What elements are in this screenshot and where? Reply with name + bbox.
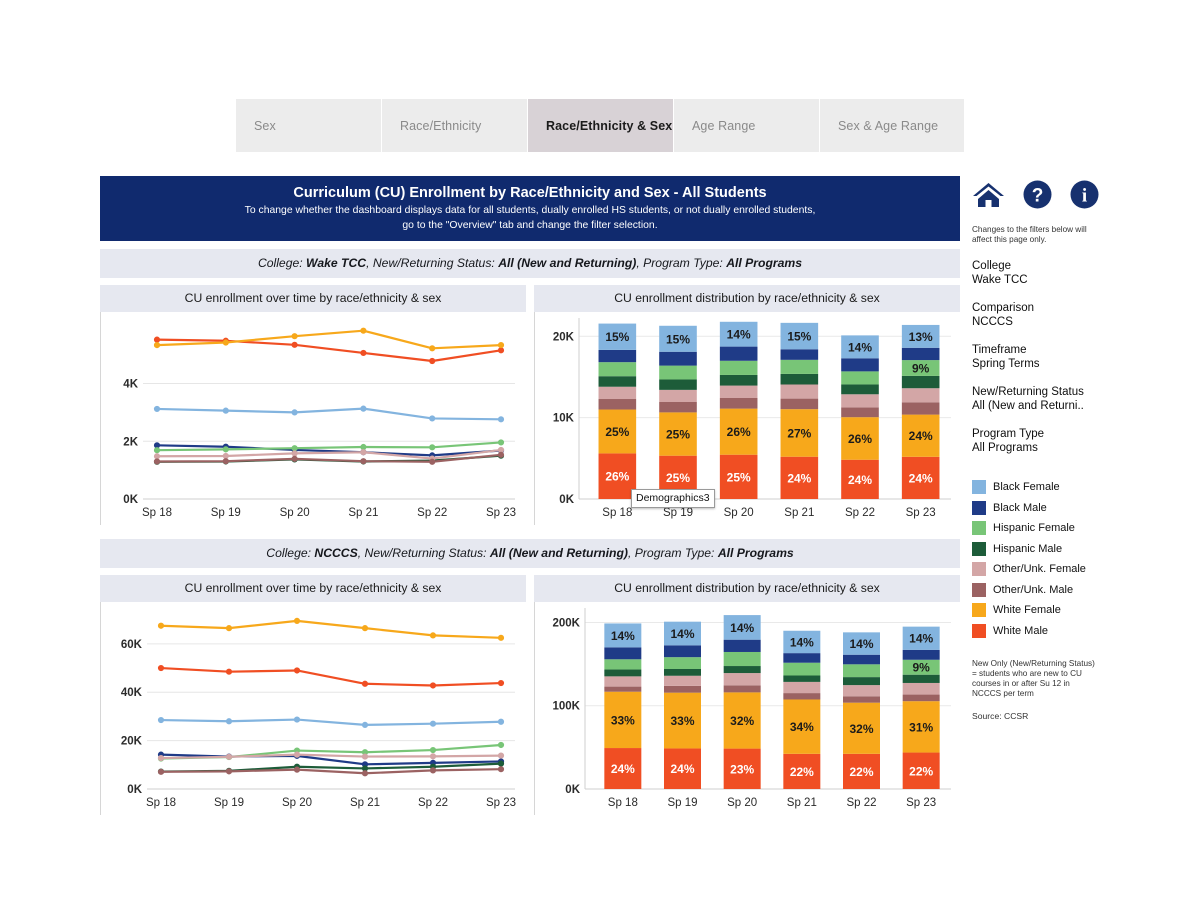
legend-swatch: [972, 501, 986, 515]
line-series-black-female[interactable]: [157, 409, 501, 420]
line-series-other-unk-male[interactable]: [161, 769, 501, 773]
data-point[interactable]: [430, 747, 435, 752]
data-point[interactable]: [498, 742, 503, 747]
data-point[interactable]: [498, 452, 503, 457]
bar-segment[interactable]: [841, 394, 879, 407]
data-point[interactable]: [294, 767, 299, 772]
home-icon[interactable]: [972, 181, 1005, 209]
data-point[interactable]: [498, 348, 503, 353]
data-point[interactable]: [158, 665, 163, 670]
bar-segment-label: 9%: [912, 661, 930, 675]
legend-item[interactable]: Black Male: [972, 498, 1122, 519]
filter-comparison[interactable]: Comparison NCCCS: [972, 301, 1122, 329]
bar-segment-label: 14%: [909, 632, 933, 646]
bar-segment-label: 33%: [611, 713, 635, 727]
filter-label: College: [972, 259, 1122, 273]
bar-segment-label: 25%: [666, 428, 690, 442]
tooltip-demographics3[interactable]: Demographics3: [631, 489, 715, 508]
bar-segment-label: 14%: [727, 328, 751, 342]
bar-segment[interactable]: [724, 673, 761, 685]
x-axis-tick-label: Sp 21: [350, 797, 380, 809]
bar-segment-label: 22%: [849, 765, 873, 779]
bar-segment[interactable]: [783, 676, 820, 682]
filter-timeframe[interactable]: Timeframe Spring Terms: [972, 343, 1122, 371]
data-point[interactable]: [158, 623, 163, 628]
x-axis-tick-label: Sp 19: [663, 507, 693, 519]
bar-segment[interactable]: [664, 645, 701, 657]
page-title: Curriculum (CU) Enrollment by Race/Ethni…: [110, 184, 950, 202]
tab-race-ethnicity[interactable]: Race/Ethnicity: [382, 99, 528, 152]
bar-segment[interactable]: [720, 398, 758, 409]
bar-segment-label: 24%: [909, 429, 933, 443]
data-point[interactable]: [226, 626, 231, 631]
bar-segment[interactable]: [599, 362, 637, 376]
bar-segment[interactable]: [604, 659, 641, 669]
bar-segment[interactable]: [783, 653, 820, 663]
band-status: All (New and Returning): [498, 256, 636, 270]
legend-swatch: [972, 521, 986, 535]
bar-segment-label: 27%: [787, 426, 811, 440]
panel-row-nccs: CU enrollment over time by race/ethnicit…: [100, 575, 960, 815]
x-axis-tick-label: Sp 19: [214, 797, 244, 809]
y-axis-tick-label: 2K: [123, 436, 138, 448]
dashboard-header: Curriculum (CU) Enrollment by Race/Ethni…: [100, 176, 960, 241]
data-point[interactable]: [430, 445, 435, 450]
x-axis-tick-label: Sp 20: [280, 507, 310, 519]
bar-segment-label: 24%: [909, 471, 933, 485]
bar-segment[interactable]: [724, 652, 761, 666]
panel-nccs-line: CU enrollment over time by race/ethnicit…: [100, 575, 526, 815]
bar-segment-label: 34%: [790, 720, 814, 734]
bar-segment[interactable]: [781, 399, 819, 410]
data-point[interactable]: [223, 408, 228, 413]
data-point[interactable]: [223, 459, 228, 464]
data-point[interactable]: [498, 635, 503, 640]
bar-segment-label: 26%: [727, 425, 751, 439]
bar-segment[interactable]: [659, 402, 697, 412]
data-point[interactable]: [154, 454, 159, 459]
x-axis-tick-label: Sp 19: [667, 797, 697, 809]
x-axis-tick-label: Sp 23: [486, 507, 516, 519]
filter-value[interactable]: NCCCS: [972, 315, 1122, 329]
stacked-bar-chart-nccs[interactable]: 0K100K200K24%33%14%Sp 1824%33%14%Sp 1923…: [535, 602, 961, 815]
data-point[interactable]: [498, 719, 503, 724]
y-axis-tick-label: 0K: [123, 494, 138, 506]
bar-segment-label: 25%: [605, 425, 629, 439]
legend-swatch: [972, 583, 986, 597]
bar-segment-label: 14%: [730, 621, 754, 635]
panel-wake-line: CU enrollment over time by race/ethnicit…: [100, 285, 526, 525]
data-point[interactable]: [292, 451, 297, 456]
bar-segment[interactable]: [843, 685, 880, 696]
tab-label: Race/Ethnicity & Sex: [546, 119, 672, 133]
x-axis-tick-label: Sp 18: [608, 797, 638, 809]
x-axis-tick-label: Sp 21: [348, 507, 378, 519]
data-point[interactable]: [362, 754, 367, 759]
bar-segment[interactable]: [841, 371, 879, 384]
x-axis-tick-label: Sp 20: [727, 797, 757, 809]
data-point[interactable]: [361, 350, 366, 355]
bar-segment-label: 25%: [727, 470, 751, 484]
legend-label: Other/Unk. Male: [993, 584, 1073, 596]
bar-segment-label: 23%: [730, 762, 754, 776]
band-college: NCCCS: [314, 546, 357, 560]
bar-segment-label: 9%: [912, 362, 930, 376]
right-sidebar: ? i Changes to the filters below will af…: [972, 180, 1122, 721]
x-axis-tick-label: Sp 22: [845, 507, 875, 519]
filter-label: New/Returning Status: [972, 385, 1122, 399]
data-point[interactable]: [294, 618, 299, 623]
data-point[interactable]: [498, 680, 503, 685]
data-point[interactable]: [362, 771, 367, 776]
legend-label: Hispanic Male: [993, 543, 1062, 555]
tab-age-range[interactable]: Age Range: [674, 99, 820, 152]
bar-segment[interactable]: [659, 379, 697, 389]
bar-segment-label: 22%: [909, 764, 933, 778]
legend-item[interactable]: Hispanic Female: [972, 518, 1122, 539]
y-axis-tick-label: 0K: [565, 784, 580, 796]
data-point[interactable]: [430, 416, 435, 421]
legend-item[interactable]: Other/Unk. Male: [972, 580, 1122, 601]
line-chart-nccs[interactable]: 0K20K40K60KSp 18Sp 19Sp 20Sp 21Sp 22Sp 2…: [101, 602, 527, 815]
legend-label: Hispanic Female: [993, 522, 1075, 534]
data-point[interactable]: [361, 444, 366, 449]
data-point[interactable]: [430, 754, 435, 759]
bar-segment-label: 15%: [787, 330, 811, 344]
x-axis-tick-label: Sp 19: [211, 507, 241, 519]
tab-label: Race/Ethnicity: [400, 119, 481, 133]
legend-swatch: [972, 480, 986, 494]
bar-segment[interactable]: [664, 669, 701, 676]
bar-segment-label: 14%: [790, 635, 814, 649]
data-point[interactable]: [361, 328, 366, 333]
bar-segment[interactable]: [720, 386, 758, 398]
line-series-black-female[interactable]: [161, 720, 501, 725]
bar-segment[interactable]: [781, 374, 819, 385]
bar-segment[interactable]: [720, 375, 758, 386]
bar-segment-label: 15%: [666, 332, 690, 346]
data-point[interactable]: [430, 768, 435, 773]
data-point[interactable]: [226, 669, 231, 674]
bar-segment-label: 14%: [611, 629, 635, 643]
wake-line-plot[interactable]: 0K2K4KSp 18Sp 19Sp 20Sp 21Sp 22Sp 23: [100, 312, 526, 525]
bar-segment[interactable]: [903, 675, 940, 683]
bar-segment[interactable]: [841, 358, 879, 371]
x-axis-tick-label: Sp 23: [906, 797, 936, 809]
panel-title: CU enrollment over time by race/ethnicit…: [100, 285, 526, 312]
bar-segment[interactable]: [659, 366, 697, 380]
panel-title: CU enrollment over time by race/ethnicit…: [100, 575, 526, 602]
stacked-bar-chart-wake[interactable]: 0K10K20K26%25%15%Sp 1825%25%15%Sp 1925%2…: [535, 312, 961, 525]
data-point[interactable]: [362, 626, 367, 631]
bar-segment[interactable]: [599, 399, 637, 410]
bar-segment[interactable]: [843, 655, 880, 665]
data-point[interactable]: [292, 342, 297, 347]
y-axis-tick-label: 10K: [553, 413, 575, 425]
bar-segment-label: 24%: [787, 471, 811, 485]
bar-segment-label: 24%: [611, 762, 635, 776]
data-point[interactable]: [292, 334, 297, 339]
bar-segment[interactable]: [902, 348, 940, 360]
data-point[interactable]: [154, 459, 159, 464]
bar-segment[interactable]: [724, 685, 761, 692]
band-mid: , New/Returning Status:: [358, 546, 490, 560]
data-point[interactable]: [498, 343, 503, 348]
data-point[interactable]: [158, 769, 163, 774]
wake-bar-plot[interactable]: 0K10K20K26%25%15%Sp 1825%25%15%Sp 1925%2…: [534, 312, 960, 525]
filter-value[interactable]: All (New and Returni..: [972, 399, 1122, 413]
bar-segment[interactable]: [841, 384, 879, 394]
line-series-white-female[interactable]: [161, 621, 501, 638]
bar-segment-label: 24%: [670, 762, 694, 776]
legend-item[interactable]: White Female: [972, 600, 1122, 621]
data-point[interactable]: [430, 358, 435, 363]
bar-segment[interactable]: [664, 657, 701, 669]
bar-segment[interactable]: [843, 677, 880, 685]
legend-swatch: [972, 542, 986, 556]
x-axis-tick-label: Sp 18: [602, 507, 632, 519]
data-point[interactable]: [294, 668, 299, 673]
bar-segment-label: 26%: [605, 470, 629, 484]
bar-segment-label: 33%: [670, 714, 694, 728]
svg-text:i: i: [1082, 186, 1087, 207]
data-point[interactable]: [154, 343, 159, 348]
data-point[interactable]: [154, 337, 159, 342]
bar-segment[interactable]: [781, 349, 819, 360]
tab-race-ethnicity-and-sex[interactable]: Race/Ethnicity & Sex: [528, 99, 674, 152]
filter-label: Program Type: [972, 427, 1122, 441]
bar-segment[interactable]: [604, 670, 641, 677]
x-axis-tick-label: Sp 22: [846, 797, 876, 809]
data-point[interactable]: [362, 681, 367, 686]
filter-value[interactable]: Wake TCC: [972, 273, 1122, 287]
legend-swatch: [972, 624, 986, 638]
filter-label: Comparison: [972, 301, 1122, 315]
data-point[interactable]: [226, 754, 231, 759]
x-axis-tick-label: Sp 23: [486, 797, 516, 809]
bar-segment[interactable]: [599, 350, 637, 362]
bar-segment[interactable]: [903, 683, 940, 695]
y-axis-tick-label: 40K: [121, 687, 143, 699]
data-point[interactable]: [430, 683, 435, 688]
x-axis-tick-label: Sp 18: [146, 797, 176, 809]
band-prefix: College:: [266, 546, 314, 560]
bar-segment-label: 24%: [848, 473, 872, 487]
data-point[interactable]: [223, 447, 228, 452]
filter-new-returning-status[interactable]: New/Returning Status All (New and Return…: [972, 385, 1122, 413]
tab-label: Age Range: [692, 119, 755, 133]
data-point[interactable]: [294, 717, 299, 722]
y-axis-tick-label: 0K: [127, 784, 142, 796]
data-point[interactable]: [223, 453, 228, 458]
y-axis-tick-label: 200K: [553, 617, 581, 629]
bar-segment[interactable]: [783, 682, 820, 693]
data-point[interactable]: [158, 717, 163, 722]
data-point[interactable]: [430, 633, 435, 638]
bar-segment-label: 22%: [790, 765, 814, 779]
data-point[interactable]: [430, 459, 435, 464]
bar-segment-label: 32%: [730, 714, 754, 728]
bar-segment-label: 25%: [666, 471, 690, 485]
y-axis-tick-label: 60K: [121, 639, 143, 651]
data-point[interactable]: [154, 448, 159, 453]
bar-segment[interactable]: [599, 387, 637, 399]
band-program: All Programs: [718, 546, 794, 560]
data-point[interactable]: [361, 406, 366, 411]
bar-segment[interactable]: [781, 360, 819, 374]
band-status: All (New and Returning): [490, 546, 628, 560]
sidebar-icon-row: ? i: [972, 180, 1122, 209]
dashboard: Curriculum (CU) Enrollment by Race/Ethni…: [100, 176, 960, 815]
filter-label: Timeframe: [972, 343, 1122, 357]
bar-segment[interactable]: [841, 407, 879, 417]
x-axis-tick-label: Sp 22: [418, 797, 448, 809]
bar-segment-label: 14%: [848, 340, 872, 354]
data-point[interactable]: [362, 722, 367, 727]
bar-segment-label: 13%: [909, 330, 933, 344]
panel-nccs-bars: CU enrollment distribution by race/ethni…: [534, 575, 960, 815]
data-point[interactable]: [361, 459, 366, 464]
legend-label: White Female: [993, 604, 1061, 616]
bar-segment[interactable]: [903, 695, 940, 702]
svg-text:?: ?: [1032, 186, 1044, 207]
data-point[interactable]: [498, 767, 503, 772]
header-subtitle-line-1: To change whether the dashboard displays…: [110, 204, 950, 217]
help-icon[interactable]: ?: [1023, 180, 1052, 209]
legend-item[interactable]: Other/Unk. Female: [972, 559, 1122, 580]
legend-label: Other/Unk. Female: [993, 563, 1086, 575]
nccs-line-plot[interactable]: 0K20K40K60KSp 18Sp 19Sp 20Sp 21Sp 22Sp 2…: [100, 602, 526, 815]
bar-segment[interactable]: [720, 361, 758, 375]
tab-sex[interactable]: Sex: [236, 99, 382, 152]
bar-segment[interactable]: [902, 402, 940, 414]
data-point[interactable]: [498, 417, 503, 422]
tab-label: Sex & Age Range: [838, 119, 938, 133]
filter-band-wake: College: Wake TCC, New/Returning Status:…: [100, 249, 960, 278]
legend-swatch: [972, 562, 986, 576]
info-icon[interactable]: i: [1070, 180, 1099, 209]
legend-item[interactable]: Black Female: [972, 477, 1122, 498]
bar-segment-label: 31%: [909, 720, 933, 734]
sidebar-source: Source: CCSR: [972, 711, 1122, 721]
x-axis-tick-label: Sp 20: [724, 507, 754, 519]
y-axis-tick-label: 20K: [553, 331, 575, 343]
data-point[interactable]: [226, 769, 231, 774]
legend-label: White Male: [993, 625, 1048, 637]
data-point[interactable]: [223, 340, 228, 345]
data-point[interactable]: [158, 755, 163, 760]
bar-segment-label: 15%: [605, 330, 629, 344]
bar-segment-label: 14%: [849, 637, 873, 651]
x-axis-tick-label: Sp 21: [784, 507, 814, 519]
data-point[interactable]: [430, 346, 435, 351]
data-point[interactable]: [292, 446, 297, 451]
bar-segment[interactable]: [659, 390, 697, 402]
line-series-white-male[interactable]: [161, 668, 501, 685]
legend-item[interactable]: Hispanic Male: [972, 539, 1122, 560]
bar-segment[interactable]: [659, 352, 697, 366]
x-axis-tick-label: Sp 23: [906, 507, 936, 519]
bar-segment-label: 14%: [670, 627, 694, 641]
bar-segment[interactable]: [599, 376, 637, 387]
data-point[interactable]: [292, 456, 297, 461]
bar-segment[interactable]: [783, 663, 820, 676]
band-mid: , New/Returning Status:: [366, 256, 498, 270]
chart-legend: Black FemaleBlack MaleHispanic FemaleHis…: [972, 477, 1122, 641]
band-mid2: , Program Type:: [628, 546, 718, 560]
legend-label: Black Female: [993, 481, 1060, 493]
y-axis-tick-label: 0K: [559, 494, 574, 506]
line-chart-wake[interactable]: 0K2K4KSp 18Sp 19Sp 20Sp 21Sp 22Sp 23: [101, 312, 527, 525]
bar-segment[interactable]: [724, 640, 761, 652]
bar-segment[interactable]: [604, 687, 641, 692]
bar-segment[interactable]: [783, 693, 820, 699]
filter-program-type[interactable]: Program Type All Programs: [972, 427, 1122, 455]
sidebar-note: Changes to the filters below will affect…: [972, 225, 1097, 245]
band-mid2: , Program Type:: [636, 256, 726, 270]
data-point[interactable]: [294, 752, 299, 757]
tab-bar[interactable]: Sex Race/Ethnicity Race/Ethnicity & Sex …: [236, 99, 964, 152]
bar-segment[interactable]: [724, 666, 761, 673]
bar-segment-label: 32%: [849, 722, 873, 736]
data-point[interactable]: [292, 410, 297, 415]
y-axis-tick-label: 100K: [553, 701, 581, 713]
bar-segment[interactable]: [604, 647, 641, 659]
tab-sex-and-age-range[interactable]: Sex & Age Range: [820, 99, 964, 152]
bar-segment[interactable]: [720, 347, 758, 361]
bar-segment[interactable]: [604, 676, 641, 686]
bar-segment[interactable]: [664, 686, 701, 693]
nccs-bar-plot[interactable]: 0K100K200K24%33%14%Sp 1824%33%14%Sp 1923…: [534, 602, 960, 815]
legend-label: Black Male: [993, 502, 1047, 514]
bar-segment[interactable]: [843, 664, 880, 677]
filter-value[interactable]: Spring Terms: [972, 357, 1122, 371]
x-axis-tick-label: Sp 18: [142, 507, 172, 519]
x-axis-tick-label: Sp 21: [787, 797, 817, 809]
x-axis-tick-label: Sp 20: [282, 797, 312, 809]
bar-segment[interactable]: [843, 696, 880, 702]
band-prefix: College:: [258, 256, 306, 270]
header-subtitle-line-2: go to the "Overview" tab and change the …: [110, 219, 950, 232]
panel-row-wake: CU enrollment over time by race/ethnicit…: [100, 285, 960, 525]
filter-band-nccs: College: NCCCS, New/Returning Status: Al…: [100, 539, 960, 568]
panel-title: CU enrollment distribution by race/ethni…: [534, 285, 960, 312]
data-point[interactable]: [498, 753, 503, 758]
data-point[interactable]: [226, 719, 231, 724]
data-point[interactable]: [498, 761, 503, 766]
panel-wake-bars: CU enrollment distribution by race/ethni…: [534, 285, 960, 525]
sidebar-footnote: New Only (New/Returning Status) = studen…: [972, 659, 1100, 699]
y-axis-tick-label: 20K: [121, 736, 143, 748]
bar-segment[interactable]: [781, 385, 819, 399]
filter-value[interactable]: All Programs: [972, 441, 1122, 455]
bar-segment[interactable]: [902, 376, 940, 388]
bar-segment[interactable]: [664, 676, 701, 686]
bar-segment[interactable]: [902, 388, 940, 402]
data-point[interactable]: [361, 450, 366, 455]
bar-segment[interactable]: [903, 650, 940, 660]
band-program: All Programs: [726, 256, 802, 270]
x-axis-tick-label: Sp 22: [417, 507, 447, 519]
band-college: Wake TCC: [306, 256, 366, 270]
y-axis-tick-label: 4K: [123, 379, 138, 391]
data-point[interactable]: [498, 440, 503, 445]
filter-college[interactable]: College Wake TCC: [972, 259, 1122, 287]
data-point[interactable]: [430, 721, 435, 726]
data-point[interactable]: [154, 406, 159, 411]
legend-item[interactable]: White Male: [972, 621, 1122, 642]
bar-segment-label: 26%: [848, 432, 872, 446]
